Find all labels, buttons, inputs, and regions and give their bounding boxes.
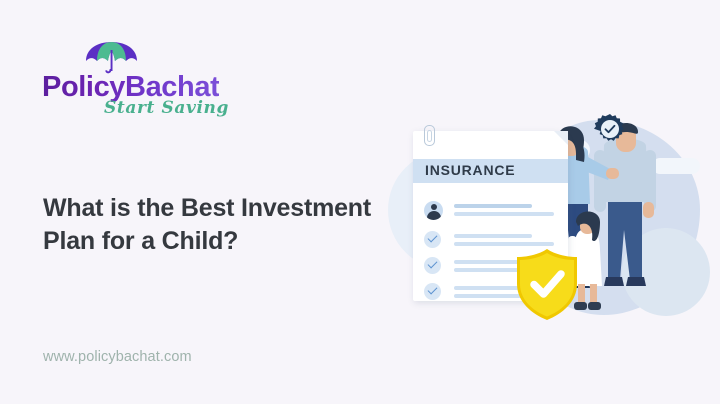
check-circle-icon [424,257,441,274]
user-avatar-icon [424,201,443,220]
family-insurance-illustration: INSURANCE [390,110,710,325]
gear-check-icon [593,113,627,147]
brand-logo[interactable]: PolicyBachat Start Saving [42,40,242,126]
paperclip-icon [424,125,435,146]
document-folded-corner [554,131,568,145]
shield-check-icon [514,248,580,322]
father-figure [594,123,656,286]
check-circle-icon [424,283,441,300]
document-row [424,201,560,225]
website-url[interactable]: www.policybachat.com [43,349,192,365]
page-title: What is the Best Investment Plan for a C… [43,192,413,258]
document-title: INSURANCE [425,162,515,178]
banner: PolicyBachat Start Saving What is the Be… [0,0,720,404]
brand-tagline: Start Saving [104,98,229,118]
umbrella-icon [84,40,140,74]
check-circle-icon [424,231,441,248]
